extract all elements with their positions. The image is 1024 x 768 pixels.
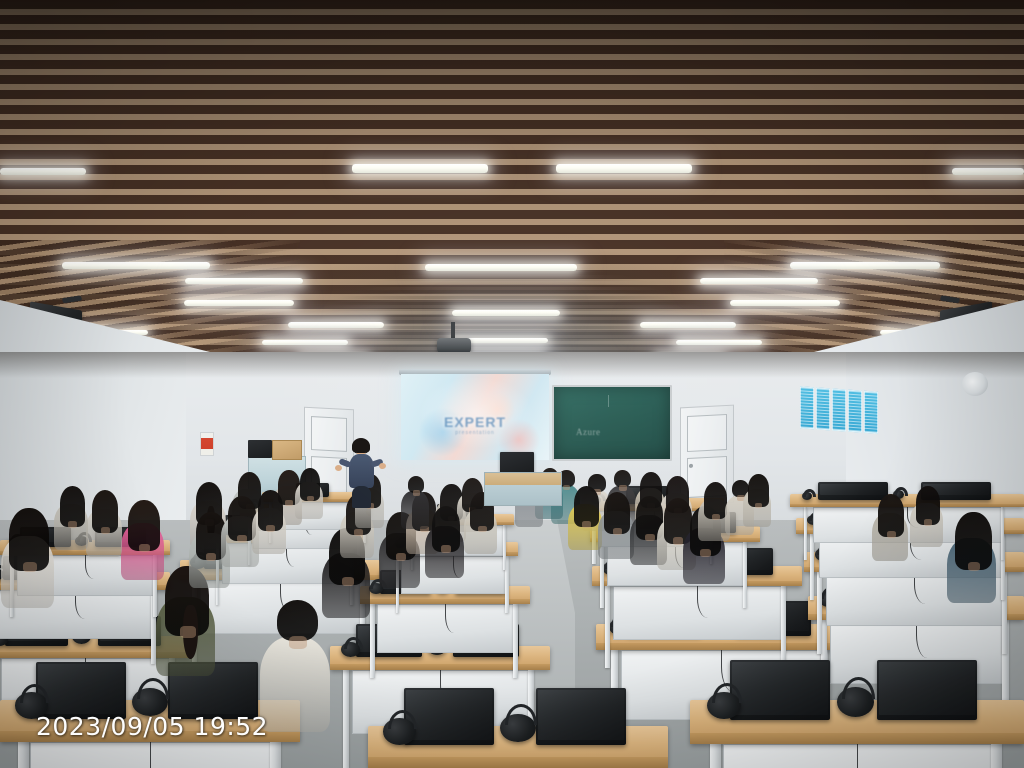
student-neck	[700, 549, 711, 557]
notice-panel	[800, 386, 814, 429]
student-neck	[266, 525, 275, 532]
cardboard-box	[272, 440, 302, 460]
blackboard: Azure	[552, 385, 672, 461]
student-neck	[755, 503, 762, 508]
ceiling-vanishing-point	[0, 0, 1024, 372]
notice-panel	[832, 389, 846, 432]
student-torso	[260, 637, 331, 732]
desk-leg	[781, 586, 786, 668]
instructor-torso	[349, 454, 374, 488]
student-neck	[289, 636, 307, 650]
headphone-cable	[445, 604, 460, 633]
student	[300, 468, 335, 524]
flat-monitor	[730, 660, 830, 719]
student	[258, 490, 302, 560]
fluorescent-tube-light	[352, 164, 488, 173]
instructor	[340, 438, 384, 502]
desk-leg	[605, 586, 610, 668]
fluorescent-tube-light	[184, 300, 294, 306]
photo-timestamp: 2023/09/05 19:52	[36, 712, 268, 741]
fluorescent-tube-light	[676, 340, 762, 345]
headphones	[837, 687, 874, 717]
slide-title: EXPERT	[401, 414, 549, 430]
instructor-legs	[352, 486, 371, 508]
student-neck	[180, 626, 195, 637]
fluorescent-tube-light	[288, 322, 384, 328]
ceiling-projector	[437, 338, 471, 353]
fluorescent-tube-light	[790, 262, 940, 269]
instructor-hand-right	[379, 463, 386, 469]
fluorescent-tube-light	[185, 278, 303, 284]
flat-monitor	[536, 688, 626, 745]
student-torso	[401, 491, 429, 529]
student-neck	[887, 531, 896, 538]
fluorescent-tube-light	[952, 168, 1024, 175]
headphones	[802, 492, 812, 500]
cabinet-monitor	[248, 440, 272, 458]
student-neck	[645, 534, 655, 541]
fluorescent-tube-light	[262, 340, 348, 345]
student-neck	[441, 545, 451, 552]
desk-leg	[804, 507, 807, 560]
student-neck	[396, 553, 406, 561]
headphone-cable	[857, 744, 885, 768]
student	[748, 474, 784, 532]
desk-leg	[817, 572, 822, 654]
student-neck	[413, 490, 420, 495]
fluorescent-tube-light	[62, 262, 210, 269]
flat-monitor	[36, 662, 126, 719]
notice-panel	[816, 387, 830, 430]
desk-leg	[710, 744, 721, 768]
student-neck	[582, 521, 591, 528]
fluorescent-tube-light	[425, 264, 577, 271]
flat-monitor	[877, 660, 977, 719]
notice-boards	[800, 386, 878, 433]
student-neck	[68, 521, 77, 528]
desk-leg	[513, 604, 518, 678]
classroom-photo: EXPERT presentation Azure 2023/09/05 19:…	[0, 0, 1024, 768]
student-neck	[307, 496, 314, 501]
desk-leg	[18, 742, 29, 768]
podium-monitor	[500, 452, 534, 474]
student-neck	[342, 577, 354, 586]
blackboard-text: Azure	[576, 427, 601, 437]
student-neck	[613, 528, 622, 535]
student-neck	[673, 537, 683, 544]
chalk-mark	[608, 395, 609, 407]
flat-monitor	[404, 688, 494, 745]
student-neck	[237, 535, 247, 542]
student-neck	[478, 526, 486, 532]
teacher-podium	[484, 472, 562, 506]
fluorescent-tube-light	[730, 300, 840, 306]
slide-subtitle: presentation	[401, 430, 549, 436]
instructor-hair-back	[352, 440, 370, 453]
student	[956, 512, 1018, 612]
fluorescent-tube-light	[640, 322, 736, 328]
student-neck	[206, 553, 216, 561]
student	[916, 486, 958, 553]
fluorescent-tube-light	[0, 168, 86, 175]
instructor-hand-left	[335, 465, 342, 471]
desk-edge	[690, 733, 1024, 744]
projection-screen: EXPERT presentation	[401, 374, 549, 460]
desk-edge	[596, 643, 846, 650]
notice-panel	[848, 390, 862, 433]
headphone-cable	[150, 742, 175, 768]
student-neck	[139, 544, 150, 552]
wall-fan-right	[962, 372, 988, 396]
student-neck	[924, 519, 932, 525]
student-neck	[619, 485, 627, 491]
desk-leg	[991, 744, 1002, 768]
desk-leg	[270, 742, 281, 768]
student-neck	[23, 562, 37, 572]
fire-notice-poster	[200, 432, 214, 456]
fluorescent-tube-light	[452, 310, 560, 316]
headphones	[383, 718, 416, 744]
wooden-slat-ceiling	[0, 0, 1024, 372]
desk-edge	[368, 757, 668, 768]
student-neck	[712, 514, 720, 520]
headphones	[500, 714, 536, 743]
notice-panel	[864, 391, 878, 434]
fluorescent-tube-light	[556, 164, 692, 173]
fluorescent-tube-light	[700, 278, 818, 284]
student	[60, 486, 104, 556]
desk-leg	[810, 534, 814, 600]
student-neck	[968, 562, 980, 571]
